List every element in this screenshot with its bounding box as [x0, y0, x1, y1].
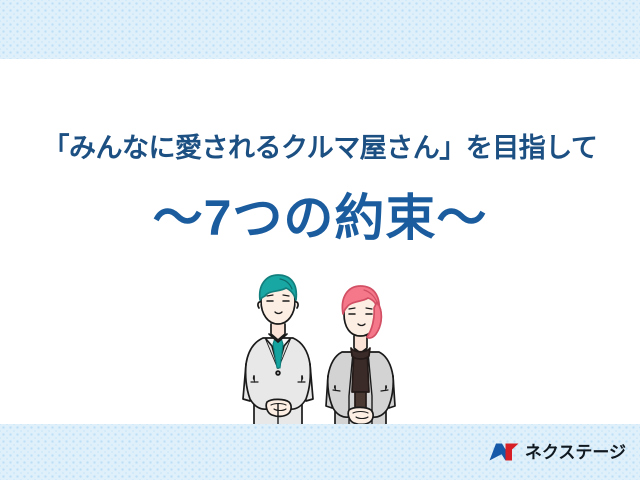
staff-illustration — [236, 272, 416, 440]
promo-slide: 「みんなに愛されるクルマ屋さん」を目指して 〜7つの約束〜 — [0, 0, 640, 480]
brand-logo: ネクステージ — [489, 439, 626, 465]
top-dot-band — [0, 0, 640, 59]
male-staff-figure — [243, 275, 313, 440]
brand-name: ネクステージ — [525, 444, 626, 461]
page-title: 「みんなに愛されるクルマ屋さん」を目指して — [0, 126, 640, 165]
page-subtitle: 〜7つの約束〜 — [0, 178, 640, 250]
nextage-n-mark — [489, 441, 519, 463]
female-staff-figure — [326, 286, 395, 440]
